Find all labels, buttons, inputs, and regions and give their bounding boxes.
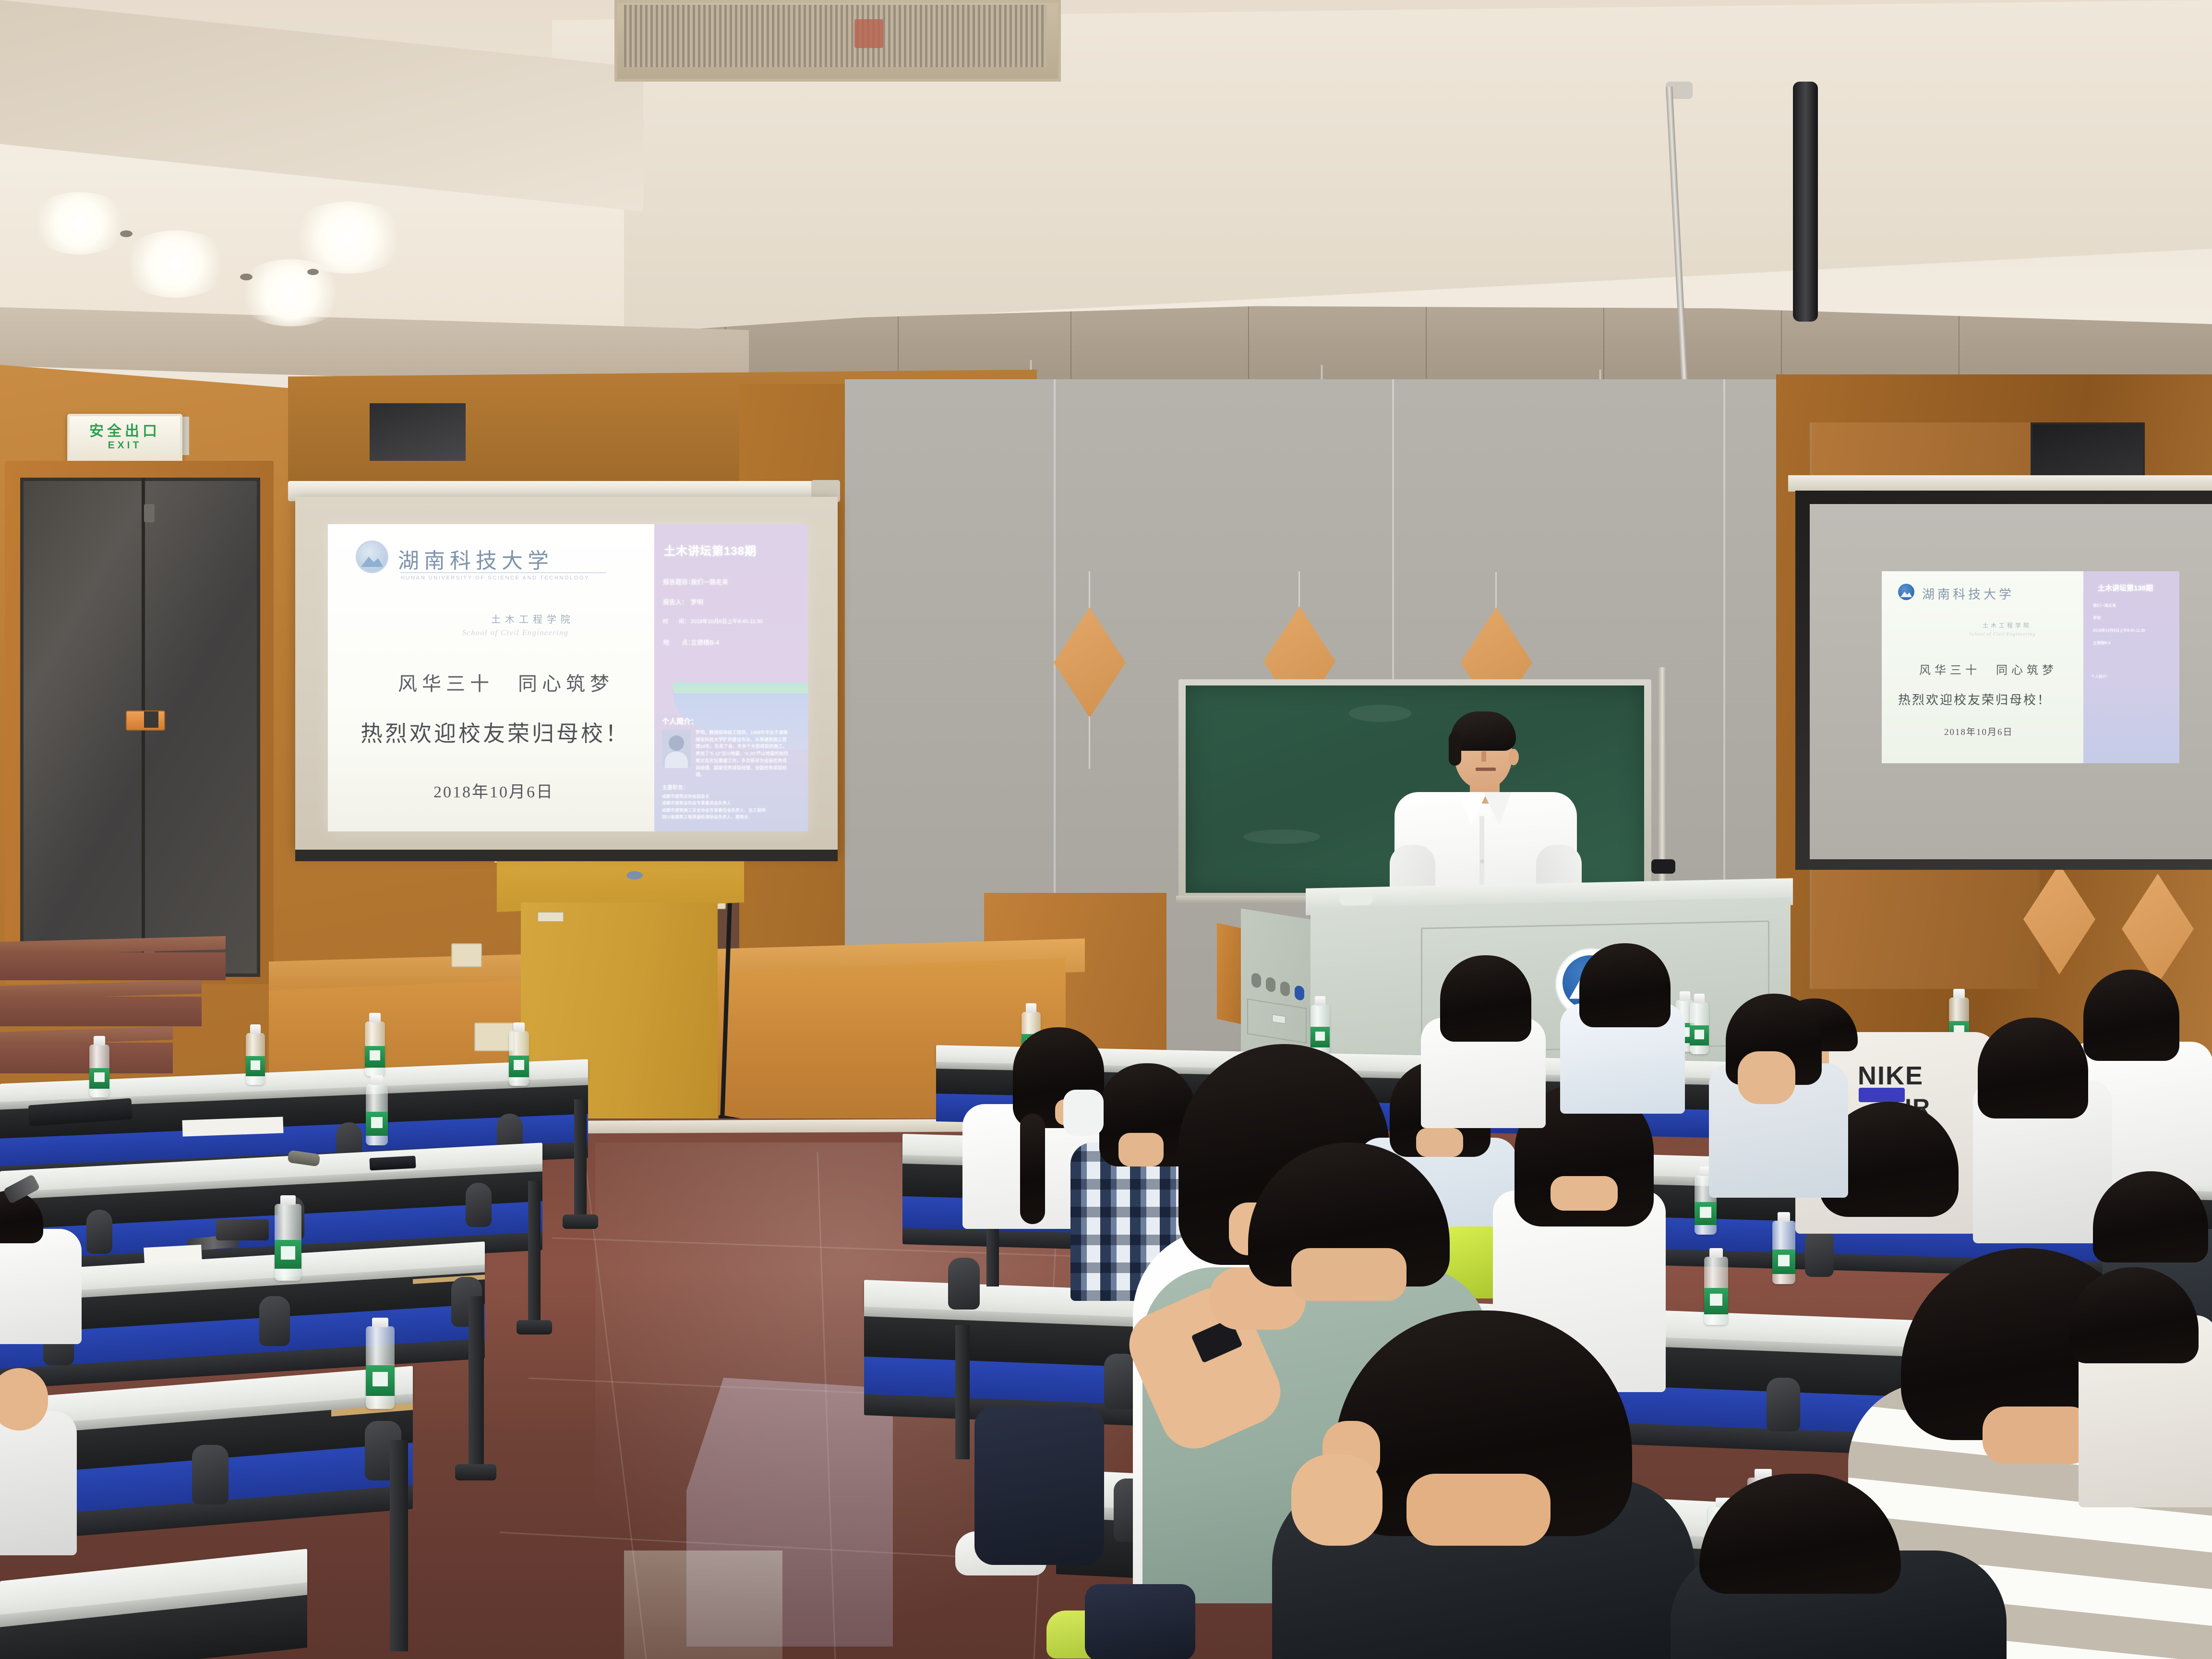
- water-bottle[interactable]: [509, 1022, 529, 1086]
- student-trousers: [974, 1407, 1104, 1565]
- student-hair: [1978, 1018, 2088, 1118]
- face-mask: [1063, 1090, 1104, 1136]
- presentation-slide-right: 湖南科技大学 土木工程学院 School of Civil Engineerin…: [1882, 571, 2179, 763]
- slide-university-name: 湖南科技大学: [398, 543, 553, 574]
- student-hand: [1291, 1455, 1382, 1546]
- student-torso: [0, 1411, 77, 1555]
- wall-seam: [1054, 379, 1056, 907]
- seat-armrest: [1805, 1229, 1834, 1277]
- ceiling-light-hole: [307, 269, 319, 275]
- water-bottle[interactable]: [246, 1024, 265, 1085]
- student-neck: [1291, 1248, 1407, 1301]
- student-neck: [1407, 1474, 1551, 1546]
- seat-armrest: [948, 1258, 980, 1310]
- speaker-hair-side: [1449, 732, 1461, 766]
- university-logo-icon: [356, 541, 388, 573]
- student-neck: [1118, 1133, 1164, 1166]
- diamond-accent-line: [1089, 716, 1090, 769]
- ceiling-light-hole: [240, 274, 252, 280]
- slide-reflection-on-floor: [624, 1551, 782, 1659]
- student-hand: [1738, 1051, 1795, 1104]
- water-bottle[interactable]: [1690, 994, 1709, 1054]
- slide-meta-row-right: 我们一路走来: [2093, 603, 2116, 608]
- presentation-slide-main: 湖南科技大学 HUNAN UNIVERSITY OF SCIENCE AND T…: [328, 524, 808, 831]
- water-bottle[interactable]: [1310, 996, 1330, 1056]
- lecture-hall-photo: 安全出口 EXIT: [0, 0, 2212, 1659]
- diamond-accent-line: [1298, 571, 1300, 609]
- student-hair: [1440, 955, 1531, 1042]
- slide-college-name-right: 土木工程学院: [1983, 621, 2032, 629]
- water-bottle[interactable]: [366, 1075, 388, 1145]
- slide-meta-row: 时 间：2018年10月6日上午9:45-11:30: [663, 617, 763, 625]
- desk-leg: [469, 1296, 484, 1469]
- slide-meta-row: 报告人：罗明: [663, 597, 703, 606]
- seat-armrest: [259, 1296, 290, 1346]
- slide-meta-key: 时 间：: [663, 617, 691, 625]
- wall-speaker-left: [370, 403, 466, 461]
- slide-bio-heading: 个人简介：: [662, 716, 698, 726]
- water-bottle[interactable]: [1772, 1212, 1795, 1284]
- desk-leg: [528, 1181, 541, 1325]
- ceiling-spotlight: [29, 192, 130, 254]
- slide-college-name-en: School of Civil Engineering: [462, 629, 568, 637]
- paper-sheet: [144, 1245, 202, 1263]
- emergency-exit-sign: 安全出口 EXIT: [67, 414, 182, 463]
- slide-meta-key: 报告人：: [663, 597, 691, 606]
- projection-screen-roller-right: [1788, 475, 2212, 492]
- nike-print-bar: [1859, 1088, 1905, 1102]
- student-torso: [0, 1229, 82, 1344]
- slide-meta-value: 立德楼B-4: [691, 639, 719, 646]
- desk-foot: [563, 1214, 598, 1229]
- seat-armrest: [192, 1445, 228, 1504]
- water-bottle[interactable]: [366, 1318, 395, 1409]
- slide-university-name-en: HUNAN UNIVERSITY OF SCIENCE AND TECHNOLO…: [401, 575, 589, 581]
- slide-bio-heading-right: 个人简介：: [2091, 674, 2110, 679]
- ceiling-spotlight: [288, 202, 408, 274]
- slide-college-name-en-right: School of Civil Engineering: [1969, 632, 2035, 637]
- student-trousers: [1085, 1584, 1195, 1659]
- slide-bio-text: 罗明，教授级高级工程师，1988年毕业于湖南煤炭科技大学矿井建设专业。从事建筑施…: [696, 730, 790, 779]
- slide-forum-title-right: 土木讲坛第138期: [2098, 583, 2153, 593]
- water-bottle[interactable]: [1704, 1248, 1728, 1325]
- ac-vent-grille-icon: [624, 5, 1046, 67]
- desk-foot: [455, 1464, 496, 1480]
- slide-slogan: 风华三十 同心筑梦: [398, 668, 614, 696]
- desk-leg: [955, 1325, 970, 1459]
- slide-meta-key: 地 点：: [663, 637, 691, 647]
- slide-duty-heading: 主要职务：: [662, 783, 688, 791]
- desk-leg: [574, 1099, 587, 1219]
- university-logo-icon: [1898, 584, 1914, 600]
- seat-armrest: [1767, 1378, 1800, 1431]
- slide-college-name: 土木工程学院: [491, 612, 575, 625]
- slide-meta-value: 2018年10月6日上午9:45-11:30: [691, 619, 763, 625]
- slide-meta-row-right: 立德楼B-4: [2093, 640, 2110, 646]
- slide-duty-text: 成都市建筑业协会副会长 成都市建筑业协会专家委员会负责人 成都市建筑施工安全协会…: [662, 793, 796, 821]
- student-hair: [2083, 970, 2179, 1061]
- exit-sign-english-label: EXIT: [108, 439, 142, 452]
- exit-sign-chinese-label: 安全出口: [89, 424, 160, 439]
- student-neck: [1551, 1176, 1618, 1211]
- slide-slogan-right: 风华三十 同心筑梦: [1919, 661, 2057, 677]
- wall-seam: [1723, 379, 1725, 907]
- student-neck: [1983, 1407, 2093, 1464]
- wall-outlet[interactable]: [474, 1022, 514, 1051]
- seat-armrest: [86, 1210, 112, 1254]
- ac-brand-logo: [854, 19, 883, 48]
- slide-meta-row: 地 点：立德楼B-4: [663, 637, 719, 647]
- slide-meta-row: 报告题目：我们一路走来: [663, 577, 728, 586]
- projector-arm: [1793, 82, 1818, 322]
- seat-armrest: [466, 1183, 492, 1227]
- lectern-asset-tag: [538, 912, 564, 922]
- desk-foot: [517, 1320, 552, 1334]
- slide-date-right: 2018年10月6日: [1944, 725, 2013, 738]
- door-hinge-icon: [144, 504, 155, 522]
- chalkboard-handle[interactable]: [1651, 859, 1675, 874]
- projection-screen-weight-bar: [295, 850, 838, 861]
- shirt-button: [1480, 859, 1484, 864]
- water-bottle[interactable]: [89, 1036, 109, 1097]
- slide-meta-value: 罗明: [691, 599, 703, 606]
- slide-date: 2018年10月6日: [433, 779, 554, 802]
- student-neck: [1416, 1128, 1463, 1157]
- slide-welcome: 热烈欢迎校友荣归母校！: [361, 716, 630, 748]
- ceiling-spotlight: [120, 230, 230, 298]
- student-ponytail: [1020, 1114, 1045, 1224]
- water-bottle[interactable]: [365, 1013, 385, 1076]
- slide-meta-row-right: 罗明: [2093, 615, 2101, 621]
- slide-meta-row-right: 2018年10月6日上午9:45-11:30: [2093, 628, 2145, 633]
- door-strike-plate: [144, 711, 158, 728]
- lectern-sticker: [626, 871, 643, 879]
- ceiling-light-hole: [120, 230, 132, 237]
- podium-control-pad[interactable]: [1339, 892, 1373, 905]
- slide-forum-title: 土木讲坛第138期: [664, 541, 757, 558]
- slide-meta-key: 报告题目：: [663, 577, 691, 586]
- diamond-accent-line: [1089, 571, 1090, 610]
- diamond-accent-line: [1495, 572, 1497, 609]
- smartphone[interactable]: [369, 1156, 416, 1171]
- desk-leg: [390, 1440, 408, 1651]
- glasses-case: [216, 1219, 269, 1240]
- slide-university-name-right: 湖南科技大学: [1922, 585, 2014, 602]
- water-bottle[interactable]: [275, 1195, 301, 1281]
- speaker-photo-placeholder: [662, 730, 691, 767]
- speaker-ear: [1508, 749, 1519, 765]
- wall-outlet[interactable]: [451, 943, 482, 967]
- student-hair: [1579, 943, 1671, 1027]
- slide-welcome-right: 热烈欢迎校友荣归母校！: [1898, 690, 2051, 708]
- slide-meta-value: 我们一路走来: [691, 578, 728, 586]
